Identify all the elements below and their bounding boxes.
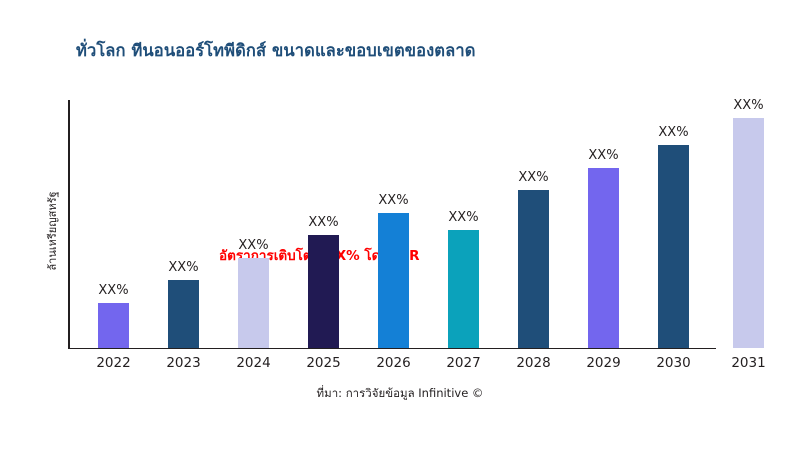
bar-slot-2030: XX% bbox=[638, 100, 708, 348]
chart-figure: ทั่วโลก ทีนอนออร์โทพีดิกส์ ขนาดและขอบเขต… bbox=[0, 0, 800, 450]
bar-slot-2024: XX% bbox=[218, 100, 288, 348]
x-tick-2025: 2025 bbox=[288, 355, 359, 371]
bar-2029[interactable] bbox=[588, 168, 619, 348]
bar-2027[interactable] bbox=[448, 230, 479, 348]
bar-slot-2028: XX% bbox=[498, 100, 568, 348]
bar-label-2025: XX% bbox=[288, 215, 359, 230]
bar-slot-2023: XX% bbox=[148, 100, 218, 348]
bar-slot-2031: XX% bbox=[713, 100, 783, 348]
x-tick-2027: 2027 bbox=[428, 355, 499, 371]
bar-label-2022: XX% bbox=[78, 283, 149, 298]
bar-label-2026: XX% bbox=[358, 193, 429, 208]
bar-slot-2026: XX% bbox=[358, 100, 428, 348]
bar-label-2027: XX% bbox=[428, 210, 499, 225]
bar-2026[interactable] bbox=[378, 213, 409, 348]
x-axis-line bbox=[68, 348, 716, 350]
bar-2031[interactable] bbox=[733, 118, 764, 348]
bar-2022[interactable] bbox=[98, 303, 129, 348]
x-tick-2026: 2026 bbox=[358, 355, 429, 371]
x-tick-2023: 2023 bbox=[148, 355, 219, 371]
bar-2028[interactable] bbox=[518, 190, 549, 348]
bar-label-2028: XX% bbox=[498, 170, 569, 185]
y-axis-label: ล้านเหรียญสหรัฐ bbox=[43, 101, 61, 361]
bar-label-2023: XX% bbox=[148, 260, 219, 275]
bar-slot-2025: XX% bbox=[288, 100, 358, 348]
x-tick-2029: 2029 bbox=[568, 355, 639, 371]
plot-area: อัตราการเติบโตที่ XX% โดย IDR XX% 2022 X… bbox=[68, 100, 780, 349]
bar-label-2030: XX% bbox=[638, 125, 709, 140]
x-tick-2024: 2024 bbox=[218, 355, 289, 371]
bar-slot-2027: XX% bbox=[428, 100, 498, 348]
x-tick-2031: 2031 bbox=[713, 355, 784, 371]
chart-title: ทั่วโลก ทีนอนออร์โทพีดิกส์ ขนาดและขอบเขต… bbox=[76, 41, 736, 62]
x-tick-2022: 2022 bbox=[78, 355, 149, 371]
y-axis-line bbox=[68, 100, 70, 349]
bar-2024[interactable] bbox=[238, 258, 269, 348]
x-tick-2030: 2030 bbox=[638, 355, 709, 371]
bar-2025[interactable] bbox=[308, 235, 339, 348]
bar-label-2024: XX% bbox=[218, 238, 289, 253]
bar-2023[interactable] bbox=[168, 280, 199, 348]
bar-slot-2029: XX% bbox=[568, 100, 638, 348]
bar-2030[interactable] bbox=[658, 145, 689, 348]
x-tick-2028: 2028 bbox=[498, 355, 569, 371]
bar-label-2031: XX% bbox=[713, 98, 784, 113]
bar-slot-2022: XX% bbox=[78, 100, 148, 348]
source-note: ที่มา: การวิจัยข้อมูล Infinitive © bbox=[0, 385, 800, 403]
bar-label-2029: XX% bbox=[568, 148, 639, 163]
